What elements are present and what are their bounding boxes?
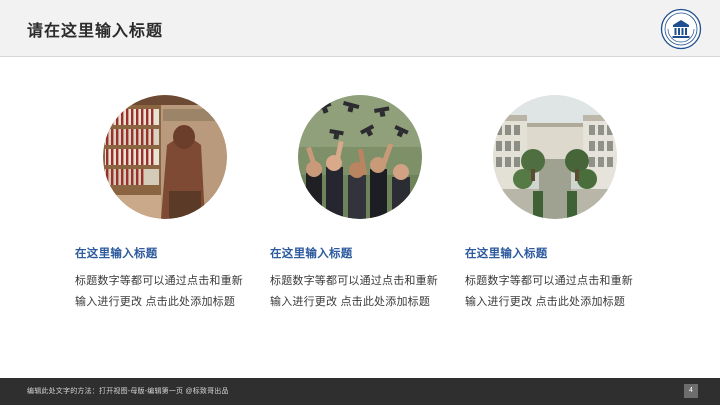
page-number-badge: 4 (684, 384, 698, 398)
column-heading: 在这里输入标题 (465, 246, 645, 262)
page-title: 请在这里输入标题 (27, 17, 163, 41)
footer-note: 编辑此处文字的方法：打开视图-母版-编辑第一页 @标致哥出品 (27, 386, 229, 396)
column-heading: 在这里输入标题 (75, 246, 255, 262)
content-column: 在这里输入标题 标题数字等都可以通过点击和重新输入进行更改 点击此处添加标题 (75, 95, 255, 313)
column-body: 标题数字等都可以通过点击和重新输入进行更改 点击此处添加标题 (270, 271, 440, 313)
column-heading: 在这里输入标题 (270, 246, 450, 262)
footer-bar: 编辑此处文字的方法：打开视图-母版-编辑第一页 @标致哥出品 4 (0, 378, 720, 405)
content-columns: 在这里输入标题 标题数字等都可以通过点击和重新输入进行更改 点击此处添加标题 (0, 95, 720, 355)
content-column: 在这里输入标题 标题数字等都可以通过点击和重新输入进行更改 点击此处添加标题 (270, 95, 450, 313)
title-divider (0, 56, 720, 57)
campus-courtyard-photo (493, 95, 617, 219)
content-column: 在这里输入标题 标题数字等都可以通过点击和重新输入进行更改 点击此处添加标题 (465, 95, 645, 313)
graduation-caps-photo (298, 95, 422, 219)
column-body: 标题数字等都可以通过点击和重新输入进行更改 点击此处添加标题 (465, 271, 635, 313)
university-crest-logo (660, 8, 702, 50)
column-body: 标题数字等都可以通过点击和重新输入进行更改 点击此处添加标题 (75, 271, 245, 313)
library-bookshelf-photo (103, 95, 227, 219)
slide: 请在这里输入标题 (0, 0, 720, 405)
